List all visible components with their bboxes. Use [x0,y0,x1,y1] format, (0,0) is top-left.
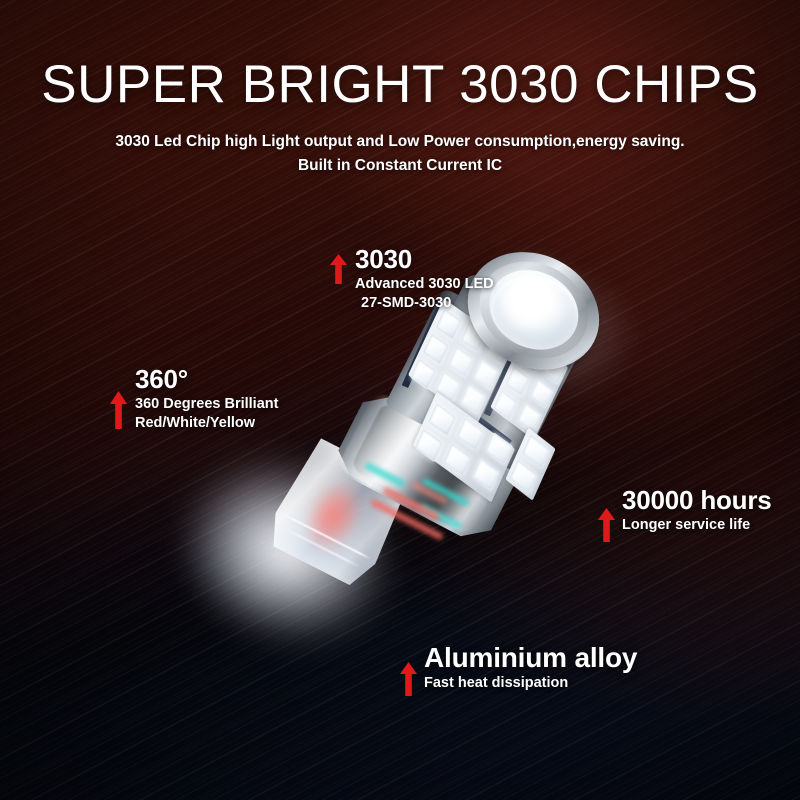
callout-3030: 3030 Advanced 3030 LED 27-SMD-3030 [330,244,494,312]
callout-subtitle-line-1: 360 Degrees Brilliant [135,395,278,414]
callout-subtitle-line-1: Advanced 3030 LED [355,275,494,294]
arrow-up-icon [598,508,615,542]
callout-text: 360° 360 Degrees Brilliant Red/White/Yel… [135,364,278,432]
callout-title: 3030 [355,244,494,275]
subtitle-line-2: Built in Constant Current IC [0,154,800,178]
callout-title: 30000 hours [622,485,772,516]
callout-text: Aluminium alloy Fast heat dissipation [424,641,637,693]
arrow-up-icon [400,662,417,696]
callout-title: Aluminium alloy [424,641,637,674]
callout-lifespan: 30000 hours Longer service life [598,485,772,542]
callout-text: 30000 hours Longer service life [622,485,772,535]
header-subtitle: 3030 Led Chip high Light output and Low … [0,130,800,178]
callout-material: Aluminium alloy Fast heat dissipation [400,641,637,696]
callout-title: 360° [135,364,278,395]
callout-subtitle-line-2: Red/White/Yellow [135,414,278,433]
page-title: SUPER BRIGHT 3030 CHIPS [0,58,800,111]
callout-subtitle-line-1: Fast heat dissipation [424,674,637,693]
callout-subtitle-line-2: 27-SMD-3030 [355,294,494,313]
callout-360-degrees: 360° 360 Degrees Brilliant Red/White/Yel… [110,364,278,432]
subtitle-line-1: 3030 Led Chip high Light output and Low … [0,130,800,154]
callout-text: 3030 Advanced 3030 LED 27-SMD-3030 [355,244,494,312]
arrow-up-icon [110,391,127,429]
arrow-up-icon [330,254,347,284]
callout-subtitle-line-1: Longer service life [622,516,772,535]
product-poster: SUPER BRIGHT 3030 CHIPS 3030 Led Chip hi… [0,0,800,800]
header: SUPER BRIGHT 3030 CHIPS 3030 Led Chip hi… [0,58,800,178]
